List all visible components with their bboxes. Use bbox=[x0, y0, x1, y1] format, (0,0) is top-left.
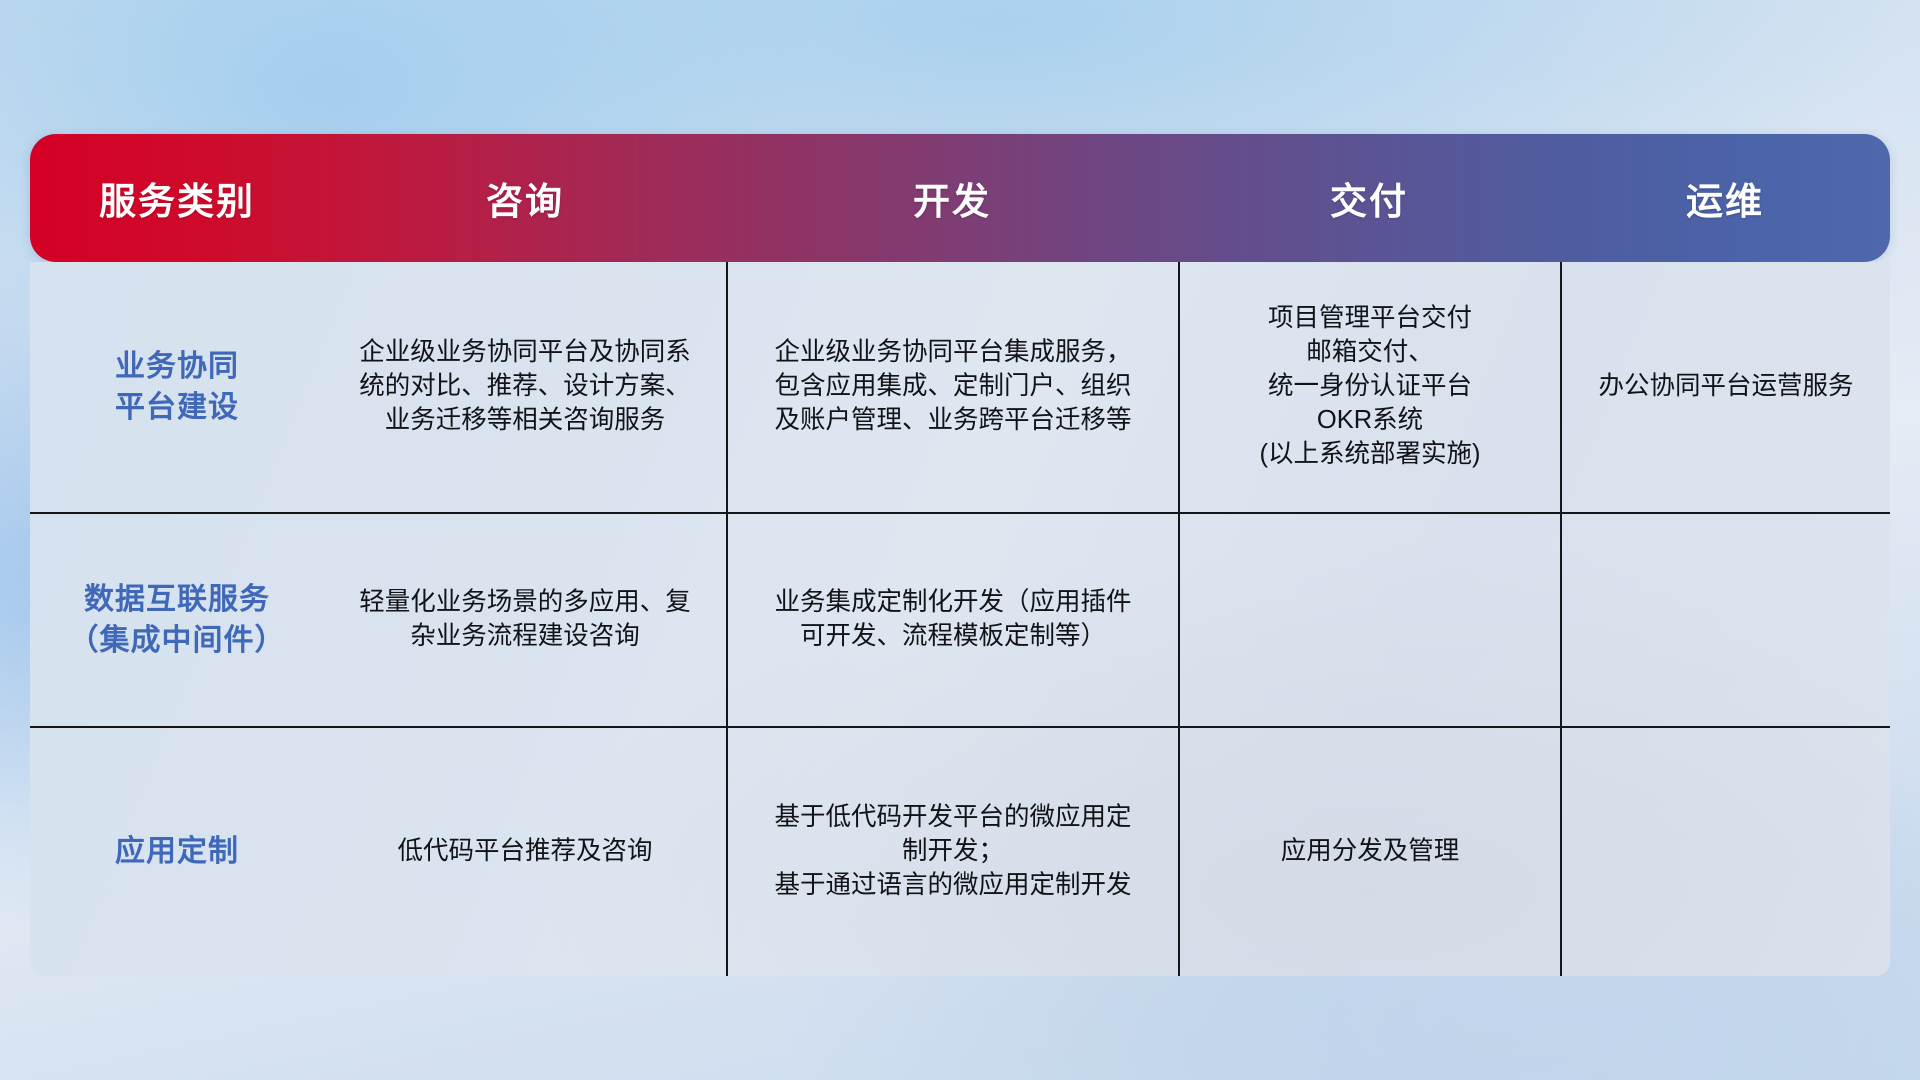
cell-delivery: 项目管理平台交付 邮箱交付、 统一身份认证平台 OKR系统 (以上系统部署实施) bbox=[1178, 262, 1560, 512]
row-category-label: 业务协同 平台建设 bbox=[30, 262, 324, 512]
table-row: 业务协同 平台建设 企业级业务协同平台及协同系 统的对比、推荐、设计方案、 业务… bbox=[30, 262, 1890, 512]
column-header-operations: 运维 bbox=[1560, 134, 1890, 262]
cell-consulting: 轻量化业务场景的多应用、复 杂业务流程建设咨询 bbox=[324, 514, 726, 726]
cell-delivery: 应用分发及管理 bbox=[1178, 728, 1560, 976]
cell-operations: 办公协同平台运营服务 bbox=[1560, 262, 1890, 512]
cell-development: 基于低代码开发平台的微应用定 制开发； 基于通过语言的微应用定制开发 bbox=[726, 728, 1178, 976]
cell-operations bbox=[1560, 514, 1890, 726]
table-row: 应用定制 低代码平台推荐及咨询 基于低代码开发平台的微应用定 制开发； 基于通过… bbox=[30, 726, 1890, 976]
column-header-development: 开发 bbox=[726, 134, 1178, 262]
column-header-category: 服务类别 bbox=[30, 134, 324, 262]
column-header-consulting: 咨询 bbox=[324, 134, 726, 262]
service-matrix-table: 服务类别 咨询 开发 交付 运维 业务协同 平台建设 企业级业务协同平台及协同系… bbox=[30, 134, 1890, 976]
table-header-row: 服务类别 咨询 开发 交付 运维 bbox=[30, 134, 1890, 262]
row-category-label: 数据互联服务 （集成中间件） bbox=[30, 514, 324, 726]
column-header-delivery: 交付 bbox=[1178, 134, 1560, 262]
row-category-label: 应用定制 bbox=[30, 728, 324, 976]
cell-consulting: 低代码平台推荐及咨询 bbox=[324, 728, 726, 976]
table-body: 业务协同 平台建设 企业级业务协同平台及协同系 统的对比、推荐、设计方案、 业务… bbox=[30, 262, 1890, 976]
cell-development: 业务集成定制化开发（应用插件 可开发、流程模板定制等） bbox=[726, 514, 1178, 726]
cell-operations bbox=[1560, 728, 1890, 976]
cell-development: 企业级业务协同平台集成服务， 包含应用集成、定制门户、组织 及账户管理、业务跨平… bbox=[726, 262, 1178, 512]
cell-consulting: 企业级业务协同平台及协同系 统的对比、推荐、设计方案、 业务迁移等相关咨询服务 bbox=[324, 262, 726, 512]
table-row: 数据互联服务 （集成中间件） 轻量化业务场景的多应用、复 杂业务流程建设咨询 业… bbox=[30, 512, 1890, 726]
cell-delivery bbox=[1178, 514, 1560, 726]
